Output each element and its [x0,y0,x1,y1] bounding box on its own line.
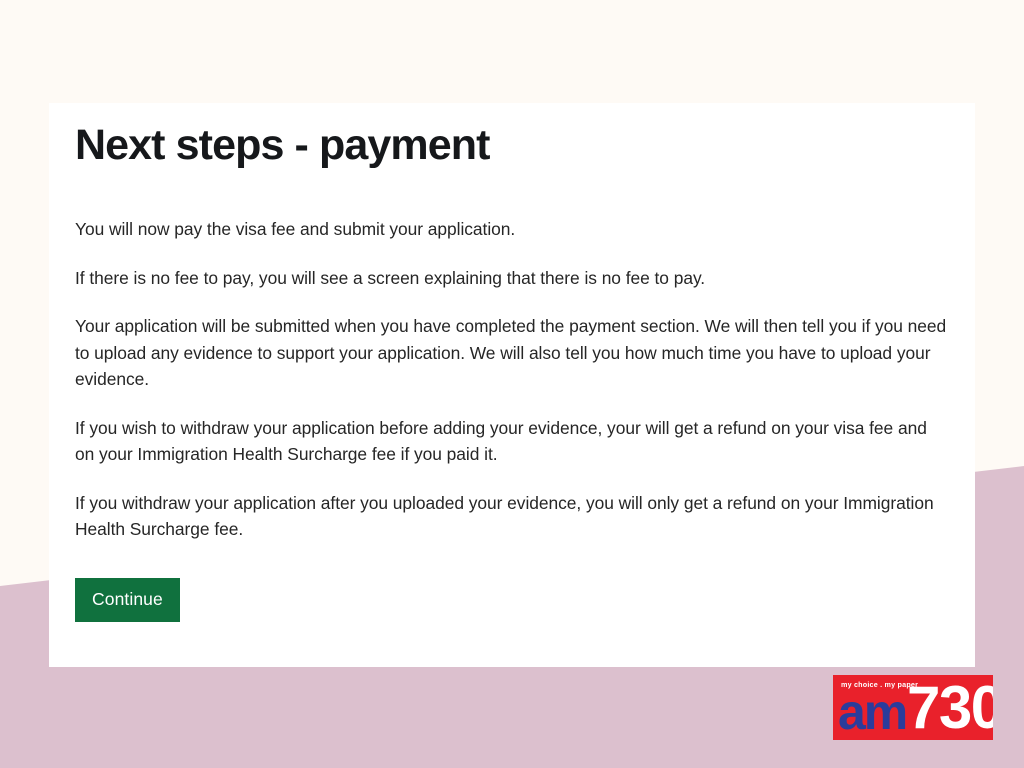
page-title: Next steps - payment [75,121,949,170]
paragraph-withdraw-before-evidence: If you wish to withdraw your application… [75,415,949,468]
paragraph-withdraw-after-evidence: If you withdraw your application after y… [75,490,949,543]
am730-logo-wordmark-number: 730 [907,676,993,739]
paragraph-pay-visa-fee: You will now pay the visa fee and submit… [75,216,947,243]
paragraph-no-fee-to-pay: If there is no fee to pay, you will see … [75,265,947,292]
continue-button[interactable]: Continue [75,578,180,623]
content-card: Next steps - payment You will now pay th… [49,103,975,667]
paragraph-application-submitted: Your application will be submitted when … [75,313,949,393]
am730-logo: my choice . my paper am 730 [833,675,993,740]
am730-logo-wordmark-am: am [838,687,906,737]
card-inner: Next steps - payment You will now pay th… [75,121,949,622]
